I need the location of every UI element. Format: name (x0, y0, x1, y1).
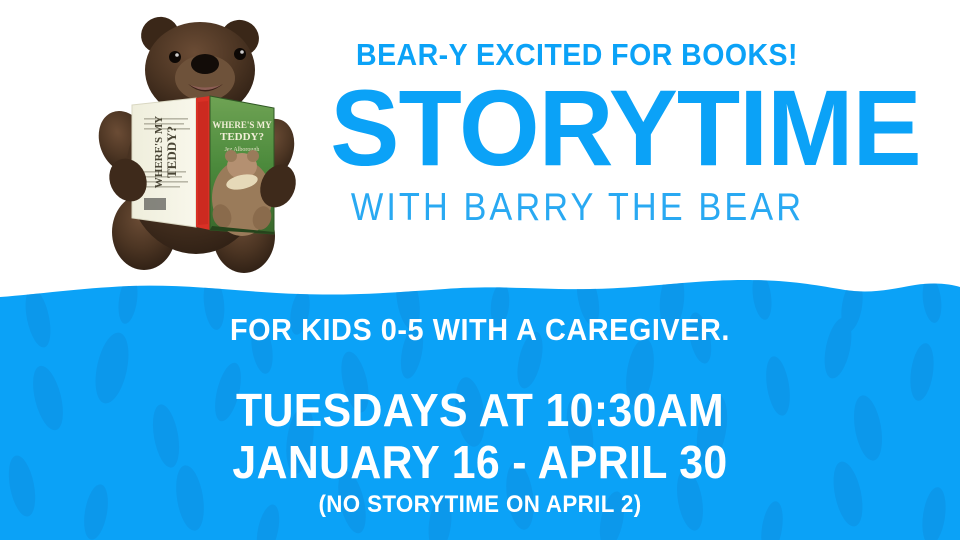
schedule-time-text: TUESDAYS AT 10:30AM (34, 384, 927, 436)
audience-text: FOR KIDS 0-5 WITH A CAREGIVER. (34, 312, 927, 348)
schedule-dates-text: JANUARY 16 - APRIL 30 (34, 436, 927, 488)
svg-text:TEDDY?: TEDDY? (164, 126, 179, 178)
poster-canvas: WHERE'S MY TEDDY? WHERE'S MY TEDDY? Jez … (0, 0, 960, 540)
headline-block: BEAR-Y EXCITED FOR BOOKS! STORYTIME WITH… (320, 38, 834, 230)
schedule-block: TUESDAYS AT 10:30AM JANUARY 16 - APRIL 3… (0, 384, 960, 520)
bear-nose (191, 54, 219, 74)
bear-eye-left (169, 51, 181, 63)
event-details-block: FOR KIDS 0-5 WITH A CAREGIVER. TUESDAYS … (0, 312, 960, 520)
svg-text:WHERE'S MY: WHERE'S MY (212, 120, 272, 130)
page-title: STORYTIME (330, 76, 823, 180)
bear-with-book-image: WHERE'S MY TEDDY? WHERE'S MY TEDDY? Jez … (92, 2, 308, 287)
bear-eye-right (234, 48, 246, 60)
schedule-exception-text: (NO STORYTIME ON APRIL 2) (34, 490, 927, 520)
subtitle-text: WITH BARRY THE BEAR (351, 186, 803, 230)
svg-text:TEDDY?: TEDDY? (220, 131, 264, 143)
picture-book: WHERE'S MY TEDDY? WHERE'S MY TEDDY? Jez … (132, 96, 274, 236)
